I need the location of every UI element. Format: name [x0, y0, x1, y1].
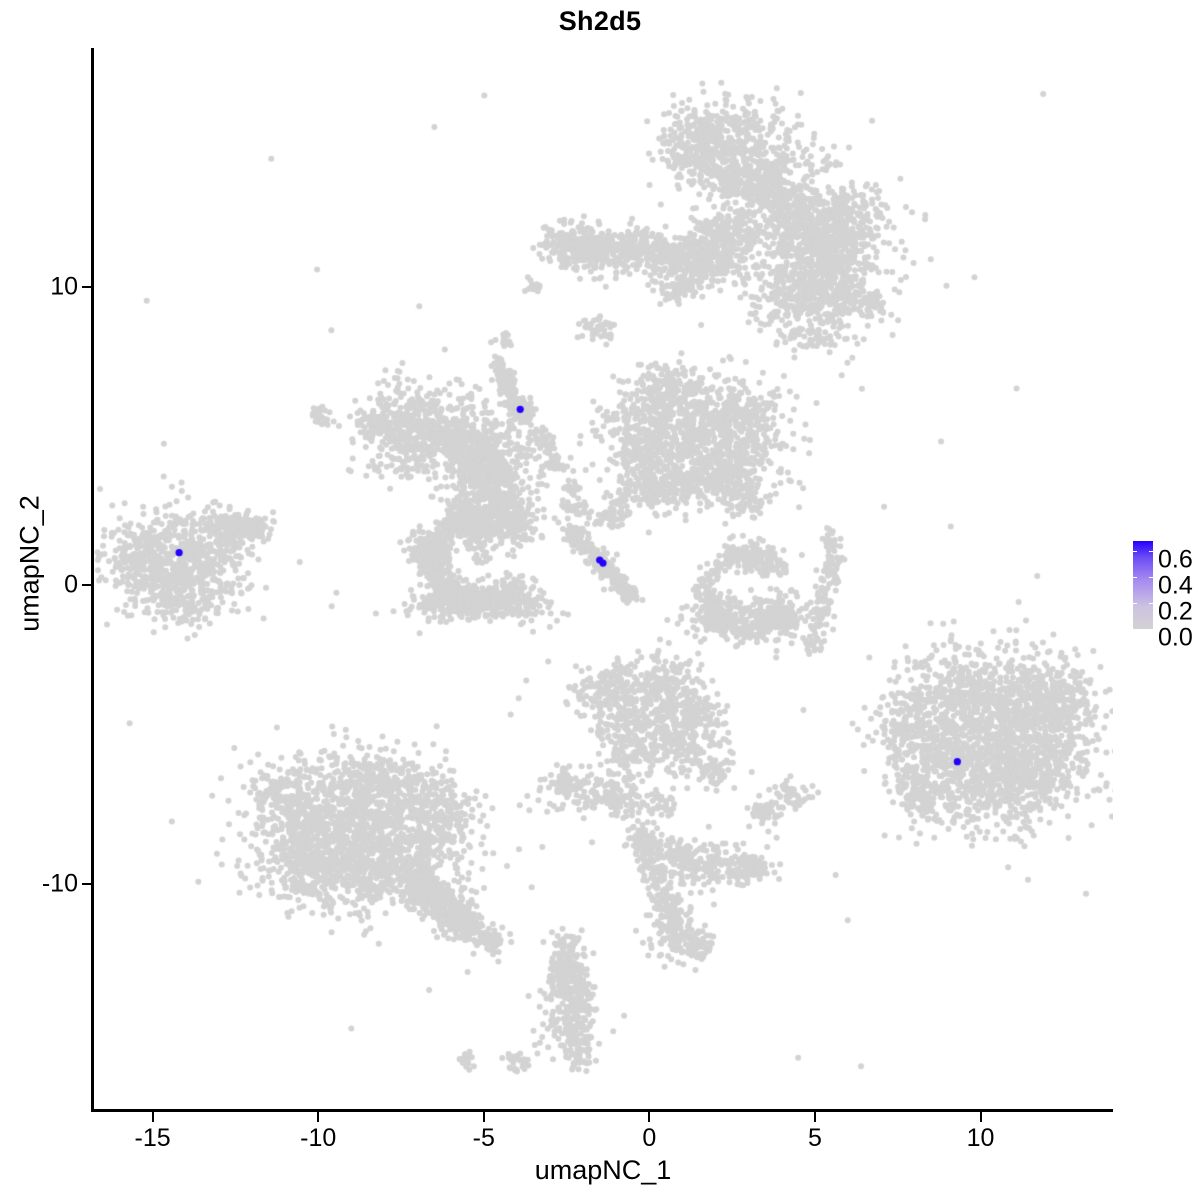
y-axis-label: umapNC_2 [15, 444, 46, 684]
legend-tick-label: 0.6 [1158, 546, 1193, 575]
y-tick-label: 10 [50, 272, 78, 301]
legend-tick-label: 0.4 [1158, 572, 1193, 601]
x-axis-line [91, 1109, 1113, 1112]
x-tick-mark [814, 1112, 816, 1122]
plot-panel [93, 48, 1113, 1111]
x-tick-label: -5 [473, 1124, 495, 1153]
y-tick-mark [82, 883, 92, 885]
color-legend-gradient-bar [1133, 541, 1153, 629]
page-title: Sh2d5 [0, 6, 1200, 37]
y-tick-label: 0 [64, 571, 78, 600]
x-tick-mark [152, 1112, 154, 1122]
legend-tick-label: 0.0 [1158, 624, 1193, 653]
x-tick-mark [317, 1112, 319, 1122]
y-axis-line [91, 48, 94, 1111]
scatter-plot-canvas [93, 48, 1113, 1111]
x-tick-mark [980, 1112, 982, 1122]
legend-tick-label: 0.2 [1158, 598, 1193, 627]
umap-feature-plot: Sh2d5 -10010 -15-10-50510 umapNC_1 umapN… [0, 0, 1200, 1200]
x-axis-label: umapNC_1 [93, 1155, 1113, 1186]
y-tick-label: -10 [42, 870, 78, 899]
x-tick-mark [648, 1112, 650, 1122]
y-tick-mark [82, 286, 92, 288]
x-tick-label: 10 [967, 1124, 995, 1153]
color-legend: 0.00.20.40.6 [1128, 536, 1200, 636]
x-tick-label: -10 [300, 1124, 336, 1153]
x-tick-label: 5 [808, 1124, 822, 1153]
y-tick-mark [82, 584, 92, 586]
x-tick-mark [483, 1112, 485, 1122]
x-tick-label: 0 [642, 1124, 656, 1153]
x-tick-label: -15 [135, 1124, 171, 1153]
